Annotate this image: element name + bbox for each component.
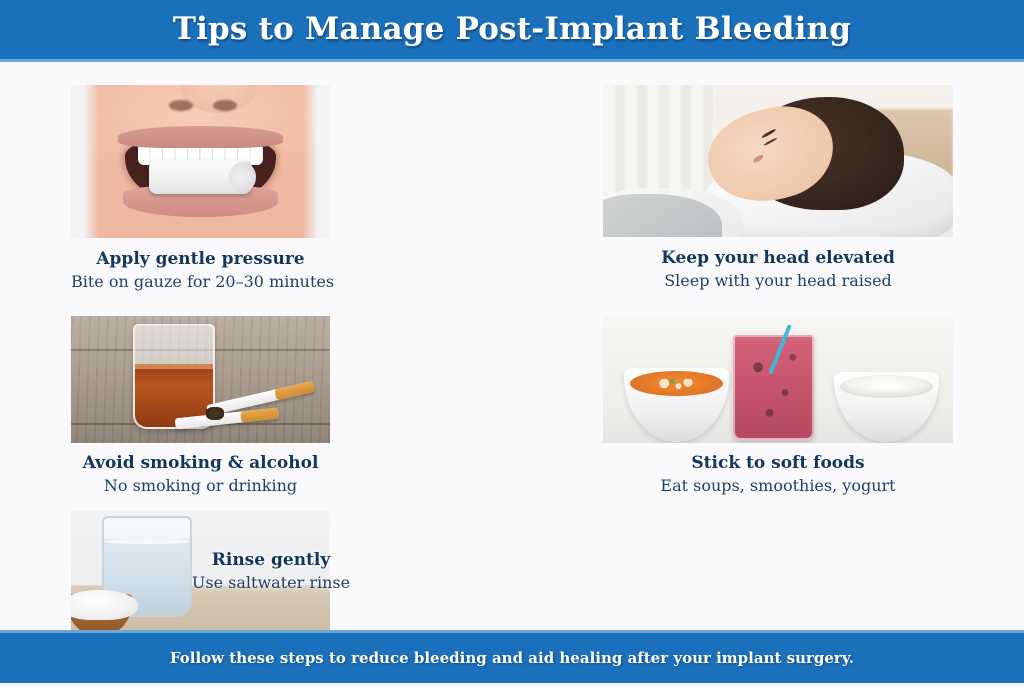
alcohol-cigarettes-photo <box>71 316 330 443</box>
sleeping-woman-photo <box>603 85 953 237</box>
footer-banner: Follow these steps to reduce bleeding an… <box>0 630 1024 683</box>
header-banner: Tips to Manage Post-Implant Bleeding <box>0 0 1024 62</box>
tip-caption: Apply gentle pressure Bite on gauze for … <box>71 248 330 293</box>
curtain-shape <box>603 85 715 204</box>
nostril-right-shape <box>213 100 236 111</box>
tip-heading: Keep your head elevated <box>603 247 953 269</box>
photo-edge-left <box>71 85 99 238</box>
page-title: Tips to Manage Post-Implant Bleeding <box>0 0 1024 58</box>
tip-caption: Stick to soft foods Eat soups, smoothies… <box>603 452 953 497</box>
tip-heading: Stick to soft foods <box>603 452 953 474</box>
tip-heading: Avoid smoking & alcohol <box>71 452 330 474</box>
lips-shape <box>752 154 764 164</box>
salt-pile-shape <box>71 590 138 621</box>
footer-text: Follow these steps to reduce bleeding an… <box>0 630 1024 686</box>
tip-subtext: No smoking or drinking <box>71 474 330 497</box>
gauze-roll-shape <box>149 160 253 194</box>
soft-foods-photo <box>603 316 953 443</box>
tip-caption: Keep your head elevated Sleep with your … <box>603 247 953 292</box>
tip-subtext: Bite on gauze for 20–30 minutes <box>71 270 330 293</box>
smoothie-glass-shape <box>733 335 814 441</box>
mouth-gauze-photo <box>71 85 330 238</box>
upper-lip-shape <box>118 126 284 147</box>
tip-subtext: Use saltwater rinse <box>153 571 389 594</box>
tip-caption: Rinse gently Use saltwater rinse <box>153 549 389 594</box>
tip-heading: Apply gentle pressure <box>71 248 330 270</box>
whiskey-glass-shape <box>133 324 215 430</box>
tip-subtext: Eat soups, smoothies, yogurt <box>603 474 953 497</box>
nostril-left-shape <box>169 100 192 111</box>
closed-eye-shape <box>763 138 777 147</box>
photo-edge-right <box>302 85 330 238</box>
tip-heading: Rinse gently <box>153 549 389 571</box>
tip-caption: Avoid smoking & alcohol No smoking or dr… <box>71 452 330 497</box>
ash-tip-shape <box>206 407 224 420</box>
tip-subtext: Sleep with your head raised <box>603 269 953 292</box>
